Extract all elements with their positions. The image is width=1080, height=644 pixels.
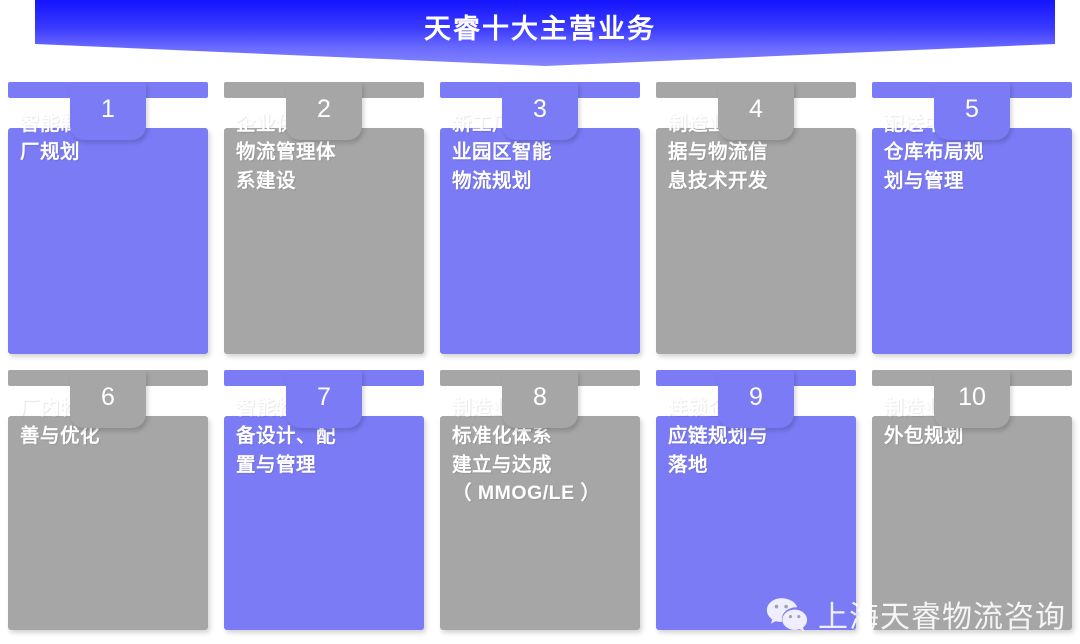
business-card-10[interactable]: 10 制造业物流 外包规划	[864, 368, 1080, 644]
card-number: 7	[317, 385, 331, 414]
header-banner: 天睿十大主营业务	[0, 0, 1080, 70]
card-number: 1	[101, 97, 115, 126]
card-number: 2	[317, 97, 331, 126]
card-number-tab: 5	[934, 82, 1010, 140]
business-card-4[interactable]: 4 制造业大数 据与物流信 息技术开发	[648, 80, 864, 368]
card-number-tab: 9	[718, 370, 794, 428]
slide-root: 天睿十大主营业务 1 智能制造工 厂规划 2 企业供应链 物流管理体 系建设 3	[0, 0, 1080, 644]
card-number: 6	[101, 385, 115, 414]
card-number-tab: 2	[286, 82, 362, 140]
card-number: 3	[533, 97, 547, 126]
card-number: 5	[965, 97, 979, 126]
card-number: 8	[533, 385, 547, 414]
card-number: 4	[749, 97, 763, 126]
business-card-8[interactable]: 8 制造业物流 标准化体系 建立与达成 （ MMOG/LE ）	[432, 368, 648, 644]
card-number-tab: 3	[502, 82, 578, 140]
card-number-tab: 10	[934, 370, 1010, 428]
business-card-7[interactable]: 7 智能物流设 备设计、配 置与管理	[216, 368, 432, 644]
business-card-2[interactable]: 2 企业供应链 物流管理体 系建设	[216, 80, 432, 368]
card-number-tab: 1	[70, 82, 146, 140]
business-card-grid: 1 智能制造工 厂规划 2 企业供应链 物流管理体 系建设 3 新工厂及工 业园…	[0, 80, 1080, 644]
business-card-1[interactable]: 1 智能制造工 厂规划	[0, 80, 216, 368]
card-number-tab: 4	[718, 82, 794, 140]
page-title: 天睿十大主营业务	[0, 0, 1080, 58]
card-number-tab: 8	[502, 370, 578, 428]
card-number: 10	[958, 385, 986, 414]
business-card-9[interactable]: 9 连锁企业供 应链规划与 落地	[648, 368, 864, 644]
business-card-5[interactable]: 5 配送中心及 仓库布局规 划与管理	[864, 80, 1080, 368]
card-number-tab: 6	[70, 370, 146, 428]
business-card-3[interactable]: 3 新工厂及工 业园区智能 物流规划	[432, 80, 648, 368]
business-card-6[interactable]: 6 厂内物流改 善与优化	[0, 368, 216, 644]
card-number: 9	[749, 385, 763, 414]
card-number-tab: 7	[286, 370, 362, 428]
